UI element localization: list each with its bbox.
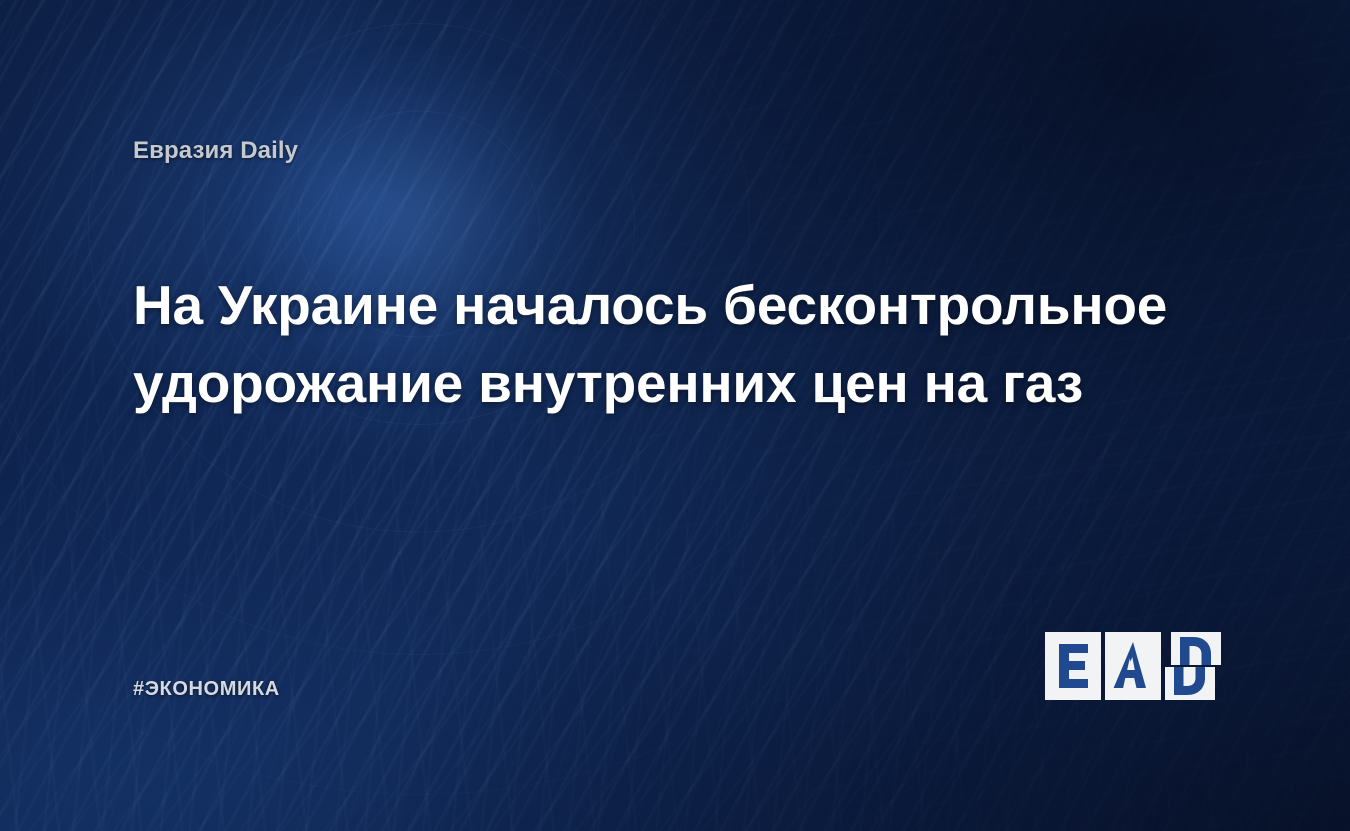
letter-a-icon [1105,632,1161,700]
news-card: Евразия Daily На Украине началось бескон… [0,0,1350,831]
letter-d-lower-icon [1165,667,1215,700]
letter-d-upper-icon [1171,632,1221,665]
logo-d-lower-half [1165,667,1215,700]
card-content: Евразия Daily На Украине началось бескон… [0,0,1350,831]
brand-name: Евразия Daily [133,137,298,165]
category-hashtag[interactable]: #ЭКОНОМИКА [133,678,280,701]
ead-logo[interactable] [1045,632,1222,700]
logo-d-upper-half [1171,632,1221,665]
logo-tile-d-split [1165,632,1221,700]
page-title: На Украине началось бесконтрольное удоро… [133,266,1223,422]
logo-tile-a [1105,632,1161,700]
logo-tile-e [1045,632,1101,700]
letter-e-icon [1045,632,1101,700]
